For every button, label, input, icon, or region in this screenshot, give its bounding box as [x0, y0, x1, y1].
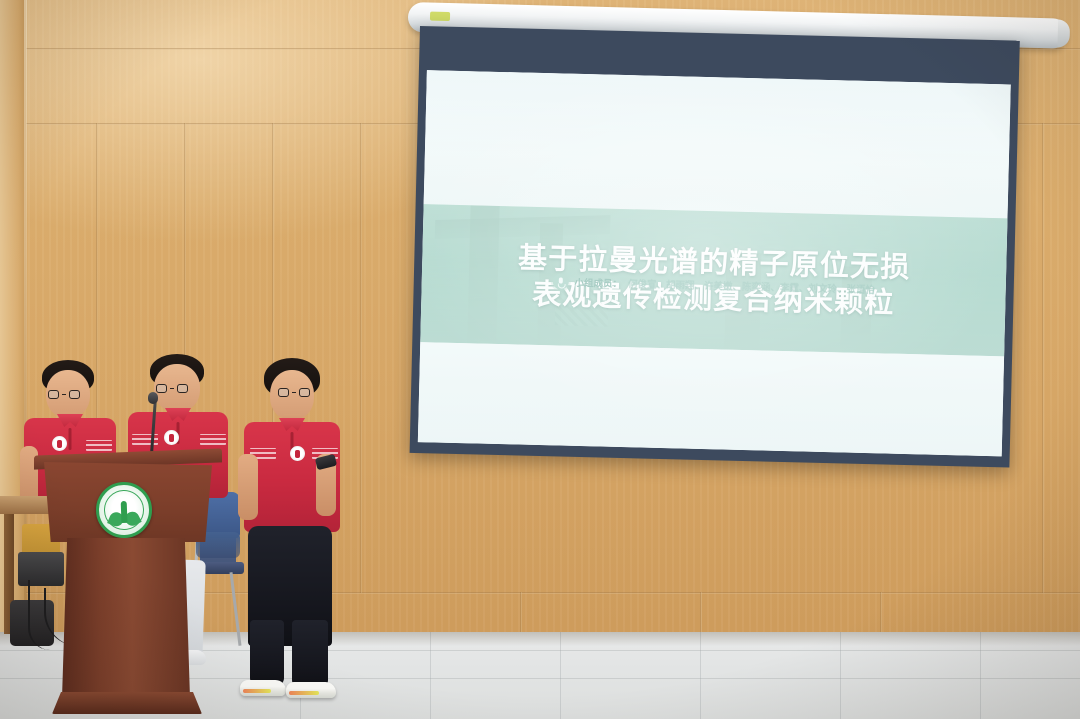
- speaker-podium: [34, 452, 222, 719]
- student-trouser-leg: [250, 620, 284, 686]
- polo-collar: [279, 418, 305, 431]
- student-right: [238, 358, 354, 718]
- sleeve-print: [86, 440, 112, 451]
- eyeglasses-icon: [48, 390, 80, 399]
- sysu-seal-emblem-icon: [95, 481, 153, 539]
- projection-surface: 中山大学 SUN YAT-SEN UNIVERSITY: [418, 70, 1011, 456]
- eyeglasses-icon: [278, 388, 310, 397]
- eyeglasses-icon: [156, 384, 188, 393]
- podium-front-face: [44, 462, 212, 542]
- presentation-slide: 中山大学 SUN YAT-SEN UNIVERSITY: [418, 70, 1011, 456]
- team-logo-icon: [290, 446, 305, 461]
- polo-collar: [165, 408, 191, 421]
- student-shoe: [286, 682, 336, 698]
- podium-microphone-head: [148, 392, 158, 404]
- roller-brand-tab: [430, 12, 450, 22]
- polo-placket: [69, 428, 72, 450]
- student-shoe: [240, 680, 286, 696]
- podium-base: [52, 692, 202, 714]
- sleeve-print: [200, 434, 226, 445]
- polo-collar: [57, 414, 83, 427]
- projection-screen: 中山大学 SUN YAT-SEN UNIVERSITY: [410, 26, 1020, 468]
- microphone-icon: [552, 274, 568, 290]
- team-logo-icon: [164, 430, 179, 445]
- student-trouser-leg: [292, 620, 328, 688]
- slide-footer-area: [418, 342, 1004, 457]
- lecture-hall-scene: 中山大学 SUN YAT-SEN UNIVERSITY: [0, 0, 1080, 719]
- team-logo-icon: [52, 436, 67, 451]
- podium-column: [62, 538, 190, 698]
- slide-header-area: [424, 70, 1011, 218]
- group-members-label: 小组成员：: [574, 275, 622, 290]
- wall-seam-vertical: [1042, 123, 1044, 593]
- wall-seam-vertical: [360, 123, 362, 593]
- student-arm: [238, 454, 258, 520]
